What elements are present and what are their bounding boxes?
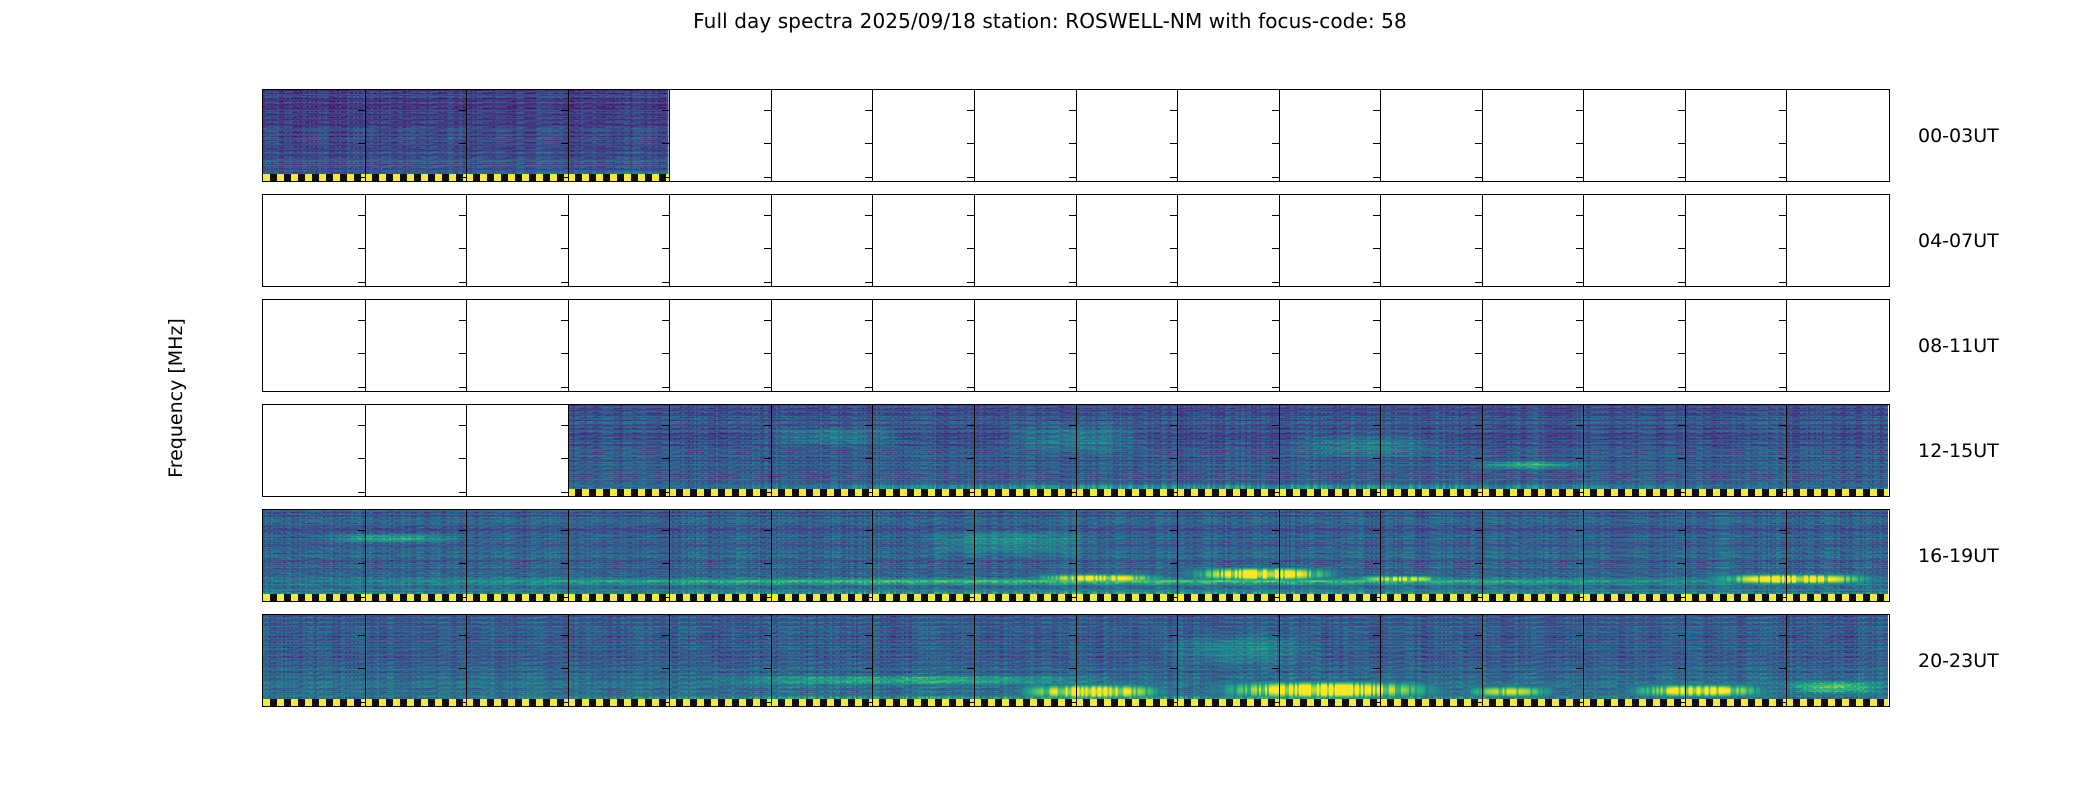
y-tick-inner	[1678, 668, 1685, 669]
y-tick-inner	[459, 282, 466, 283]
y-tick-inner	[967, 320, 974, 321]
y-tick-inner	[865, 492, 872, 493]
spectrogram-row: 20406000153045001530450015304500153045	[262, 614, 1890, 707]
frequency-baseline-marker	[263, 594, 365, 601]
y-tick-inner	[1272, 635, 1279, 636]
y-tick-inner	[1272, 458, 1279, 459]
y-tick-inner	[764, 320, 771, 321]
y-tick-inner	[967, 702, 974, 703]
y-tick-inner	[1272, 110, 1279, 111]
y-tick-inner	[1373, 143, 1380, 144]
panel-separator	[466, 510, 467, 601]
y-tick-inner	[1272, 143, 1279, 144]
y-tick-inner	[561, 668, 568, 669]
panel-separator	[1076, 195, 1078, 286]
y-tick-inner	[1170, 563, 1177, 564]
y-tick-inner	[1272, 597, 1279, 598]
y-tick-inner	[1779, 668, 1786, 669]
panel-separator	[974, 405, 975, 496]
y-tick-inner	[1576, 425, 1583, 426]
panel-separator	[1685, 615, 1686, 706]
y-tick-inner	[459, 353, 466, 354]
panel-separator	[872, 405, 873, 496]
frequency-baseline-marker	[568, 594, 670, 601]
y-tick-inner	[764, 282, 771, 283]
panel-separator	[365, 405, 366, 496]
y-tick-inner	[1069, 143, 1076, 144]
y-tick-inner	[561, 492, 568, 493]
y-tick-inner	[865, 215, 872, 216]
y-tick-inner	[764, 635, 771, 636]
y-tick-inner	[1069, 282, 1076, 283]
y-tick-inner	[865, 668, 872, 669]
y-tick-inner	[1576, 635, 1583, 636]
panel-separator	[1076, 90, 1078, 181]
y-tick-inner	[1069, 320, 1076, 321]
y-tick-inner	[459, 597, 466, 598]
panel-separator	[771, 405, 772, 496]
y-tick-inner	[1373, 248, 1380, 249]
panel-separator	[771, 615, 772, 706]
y-tick-inner	[967, 668, 974, 669]
panel-separator	[669, 405, 670, 496]
y-tick-inner	[561, 702, 568, 703]
y-tick-inner	[1272, 215, 1279, 216]
frequency-baseline-marker	[1583, 594, 1685, 601]
y-tick-inner	[662, 530, 669, 531]
y-tick-inner	[1069, 702, 1076, 703]
page-title: Full day spectra 2025/09/18 station: ROS…	[0, 9, 2100, 33]
panel-separator	[974, 90, 975, 181]
frequency-baseline-marker	[1177, 699, 1279, 706]
y-tick-inner	[1779, 492, 1786, 493]
panel-separator	[1177, 510, 1178, 601]
y-tick-inner	[1272, 425, 1279, 426]
y-tick-inner	[1576, 110, 1583, 111]
panel-separator	[1177, 195, 1178, 286]
y-tick-inner	[662, 248, 669, 249]
y-tick-inner	[561, 320, 568, 321]
y-tick-inner	[561, 353, 568, 354]
y-tick-inner	[1170, 530, 1177, 531]
y-tick-inner	[1170, 668, 1177, 669]
y-tick-inner	[561, 248, 568, 249]
spectrogram-figure: Full day spectra 2025/09/18 station: ROS…	[0, 0, 2100, 800]
y-tick-inner	[967, 248, 974, 249]
y-tick-inner	[561, 282, 568, 283]
y-tick-inner	[865, 635, 872, 636]
panel-separator	[1177, 405, 1178, 496]
panel-separator	[1279, 90, 1280, 181]
y-tick-inner	[764, 177, 771, 178]
y-tick-inner	[459, 110, 466, 111]
y-tick-inner	[1373, 635, 1380, 636]
row-label-08-11ut: 08-11UT	[1918, 335, 1999, 357]
y-tick-inner	[764, 215, 771, 216]
panel-separator	[1177, 300, 1178, 391]
panel-separator	[1786, 405, 1787, 496]
panel-separator	[1786, 195, 1787, 286]
y-tick-inner	[1272, 387, 1279, 388]
y-tick-inner	[561, 143, 568, 144]
y-tick-inner	[1779, 458, 1786, 459]
frequency-baseline-marker	[1380, 699, 1482, 706]
y-tick-inner	[1475, 635, 1482, 636]
y-tick-inner	[459, 425, 466, 426]
y-tick	[262, 282, 263, 283]
panel-separator	[1786, 510, 1787, 601]
frequency-baseline-marker	[1786, 489, 1888, 496]
y-tick-inner	[459, 458, 466, 459]
y-tick-inner	[1272, 492, 1279, 493]
y-tick-inner	[1272, 668, 1279, 669]
frequency-baseline-marker	[1279, 489, 1381, 496]
panel-separator	[1279, 195, 1280, 286]
frequency-baseline-marker	[974, 489, 1076, 496]
y-tick-inner	[358, 702, 365, 703]
panel-separator	[872, 510, 873, 601]
frequency-baseline-marker	[1482, 699, 1584, 706]
y-tick-inner	[1170, 387, 1177, 388]
frequency-baseline-marker	[872, 699, 974, 706]
y-tick-inner	[1272, 530, 1279, 531]
y-tick-inner	[358, 492, 365, 493]
y-tick-inner	[1779, 563, 1786, 564]
frequency-baseline-marker	[1482, 489, 1584, 496]
panel-separator	[1482, 90, 1483, 181]
y-tick-inner	[561, 458, 568, 459]
x-tick	[669, 706, 670, 707]
y-tick-inner	[1779, 353, 1786, 354]
x-tick	[1786, 706, 1787, 707]
y-tick-inner	[358, 563, 365, 564]
frequency-baseline-marker	[669, 489, 771, 496]
row-label-20-23ut: 20-23UT	[1918, 650, 1999, 672]
y-tick-inner	[1272, 320, 1279, 321]
panel-separator	[1583, 405, 1584, 496]
row-label-04-07ut: 04-07UT	[1918, 230, 1999, 252]
frequency-baseline-marker	[1177, 489, 1279, 496]
y-tick-inner	[459, 492, 466, 493]
panel-separator	[771, 195, 772, 286]
plot-area: 2040602040602040602040602040602040600015…	[262, 89, 1890, 707]
panel-separator	[568, 405, 569, 496]
y-tick-inner	[764, 492, 771, 493]
y-tick-inner	[358, 110, 365, 111]
panel-separator	[1076, 300, 1078, 391]
panel-separator	[1177, 90, 1178, 181]
y-tick	[262, 458, 263, 459]
frequency-baseline-marker	[1685, 594, 1787, 601]
frequency-baseline-marker	[568, 489, 670, 496]
panel-separator	[1380, 195, 1381, 286]
panel-separator	[974, 300, 975, 391]
y-tick-inner	[662, 597, 669, 598]
panel-separator	[669, 615, 670, 706]
y-tick-inner	[967, 110, 974, 111]
y-tick-inner	[865, 110, 872, 111]
y-tick-inner	[1576, 143, 1583, 144]
y-tick-inner	[459, 563, 466, 564]
y-tick-inner	[1475, 563, 1482, 564]
x-tick	[263, 706, 264, 707]
panel-separator	[466, 195, 467, 286]
y-tick	[262, 387, 263, 388]
panel-separator	[1279, 510, 1280, 601]
y-tick-inner	[358, 668, 365, 669]
y-tick-inner	[1373, 458, 1380, 459]
row-label-16-19ut: 16-19UT	[1918, 545, 1999, 567]
frequency-baseline-marker	[669, 699, 771, 706]
y-tick-inner	[865, 177, 872, 178]
frequency-baseline-marker	[872, 594, 974, 601]
y-tick-inner	[1678, 282, 1685, 283]
panel-separator	[974, 510, 975, 601]
y-tick-inner	[1069, 563, 1076, 564]
y-tick-inner	[1678, 248, 1685, 249]
panel-separator	[1380, 300, 1381, 391]
panel-separator	[466, 90, 467, 181]
y-tick-inner	[1678, 143, 1685, 144]
y-tick	[262, 530, 263, 531]
panel-separator	[1380, 510, 1381, 601]
y-tick-inner	[1576, 387, 1583, 388]
y-tick-inner	[1779, 110, 1786, 111]
y-tick-inner	[561, 597, 568, 598]
y-tick-inner	[1576, 248, 1583, 249]
y-tick-inner	[1069, 248, 1076, 249]
y-tick-inner	[561, 387, 568, 388]
x-tick	[1380, 706, 1381, 707]
y-tick-inner	[459, 177, 466, 178]
y-tick-inner	[764, 143, 771, 144]
y-tick-inner	[459, 143, 466, 144]
y-tick-inner	[1678, 492, 1685, 493]
panel-separator	[872, 300, 873, 391]
y-tick	[262, 320, 263, 321]
y-tick-inner	[1475, 248, 1482, 249]
y-tick-inner	[662, 143, 669, 144]
y-tick-inner	[561, 177, 568, 178]
frequency-baseline-marker	[872, 489, 974, 496]
y-tick-inner	[662, 635, 669, 636]
y-tick-inner	[358, 177, 365, 178]
y-tick-inner	[1475, 425, 1482, 426]
x-tick	[1177, 706, 1178, 707]
frequency-baseline-marker	[1786, 699, 1888, 706]
y-tick-inner	[358, 282, 365, 283]
frequency-baseline-marker	[1685, 489, 1787, 496]
y-tick-inner	[1779, 177, 1786, 178]
panel-separator	[1482, 405, 1483, 496]
y-tick-inner	[662, 110, 669, 111]
y-tick	[262, 143, 263, 144]
y-tick-inner	[1576, 702, 1583, 703]
y-tick-inner	[1779, 702, 1786, 703]
y-tick-inner	[1170, 492, 1177, 493]
y-tick-inner	[1170, 320, 1177, 321]
panel-separator	[1685, 300, 1686, 391]
y-tick-inner	[1576, 353, 1583, 354]
y-tick-inner	[1272, 353, 1279, 354]
y-tick-inner	[1475, 492, 1482, 493]
frequency-baseline-marker	[974, 699, 1076, 706]
x-tick	[568, 706, 569, 707]
y-tick-inner	[1373, 563, 1380, 564]
y-tick	[262, 492, 263, 493]
y-tick-inner	[1576, 215, 1583, 216]
y-tick-inner	[1069, 492, 1076, 493]
spectrogram-row: 204060	[262, 194, 1890, 287]
panel-separator	[669, 300, 670, 391]
y-tick-inner	[967, 458, 974, 459]
frequency-baseline-marker	[1583, 699, 1685, 706]
frequency-baseline-marker	[1583, 489, 1685, 496]
y-tick-inner	[358, 425, 365, 426]
y-tick-inner	[1373, 668, 1380, 669]
panel-separator	[872, 90, 873, 181]
y-tick-inner	[967, 425, 974, 426]
frequency-baseline-marker	[1482, 594, 1584, 601]
y-tick-inner	[662, 353, 669, 354]
y-tick-inner	[1576, 597, 1583, 598]
y-tick-inner	[865, 530, 872, 531]
y-tick-inner	[662, 425, 669, 426]
x-tick	[771, 706, 772, 707]
y-tick-inner	[1069, 530, 1076, 531]
panel-separator	[1583, 195, 1584, 286]
y-tick-inner	[662, 458, 669, 459]
y-tick	[262, 177, 263, 178]
y-tick-inner	[1272, 563, 1279, 564]
y-tick-inner	[1678, 387, 1685, 388]
frequency-baseline-marker	[365, 594, 467, 601]
y-tick-inner	[1779, 320, 1786, 321]
panel-separator	[974, 195, 975, 286]
y-tick-inner	[1779, 248, 1786, 249]
y-tick-inner	[1373, 492, 1380, 493]
y-tick-inner	[1069, 387, 1076, 388]
y-tick-inner	[1678, 597, 1685, 598]
frequency-baseline-marker	[771, 489, 873, 496]
y-tick-inner	[1475, 353, 1482, 354]
frequency-baseline-marker	[466, 699, 568, 706]
y-tick-inner	[865, 563, 872, 564]
y-tick	[262, 110, 263, 111]
frequency-baseline-marker	[568, 174, 670, 181]
panel-separator	[1380, 90, 1381, 181]
y-tick-inner	[358, 458, 365, 459]
y-tick-inner	[1170, 458, 1177, 459]
y-tick-inner	[967, 492, 974, 493]
y-tick-inner	[1678, 458, 1685, 459]
y-tick-inner	[1170, 282, 1177, 283]
frequency-baseline-marker	[1380, 489, 1482, 496]
panel-separator	[466, 405, 467, 496]
panel-separator	[1380, 405, 1381, 496]
y-tick-inner	[967, 177, 974, 178]
y-tick-inner	[561, 110, 568, 111]
y-tick-inner	[1678, 425, 1685, 426]
y-tick-inner	[1678, 110, 1685, 111]
y-tick-inner	[865, 353, 872, 354]
y-tick-inner	[1069, 215, 1076, 216]
frequency-baseline-marker	[568, 699, 670, 706]
x-tick	[1279, 706, 1280, 707]
y-tick-inner	[1779, 387, 1786, 388]
y-tick-inner	[561, 425, 568, 426]
panel-separator	[1685, 90, 1686, 181]
x-tick	[1583, 706, 1584, 707]
y-tick-inner	[459, 530, 466, 531]
panel-separator	[1786, 615, 1787, 706]
panel-separator	[974, 615, 975, 706]
y-tick-inner	[459, 702, 466, 703]
panel-separator	[1177, 615, 1178, 706]
panel-separator	[1482, 195, 1483, 286]
y-tick-inner	[358, 635, 365, 636]
row-label-12-15ut: 12-15UT	[1918, 440, 1999, 462]
y-tick-inner	[1475, 387, 1482, 388]
y-tick-inner	[764, 248, 771, 249]
panel-separator	[771, 510, 772, 601]
x-tick	[974, 706, 975, 707]
y-tick-inner	[764, 563, 771, 564]
y-tick-inner	[1678, 530, 1685, 531]
y-tick-inner	[358, 215, 365, 216]
panel-separator	[1482, 510, 1483, 601]
y-tick-inner	[358, 387, 365, 388]
y-tick-inner	[662, 177, 669, 178]
y-tick-inner	[662, 215, 669, 216]
y-tick-inner	[1373, 353, 1380, 354]
y-tick-inner	[1576, 492, 1583, 493]
y-axis-label: Frequency [MHz]	[165, 318, 187, 478]
y-tick-inner	[1373, 425, 1380, 426]
y-tick-inner	[459, 668, 466, 669]
y-tick-inner	[1272, 248, 1279, 249]
frequency-baseline-marker	[1279, 699, 1381, 706]
y-tick-inner	[1272, 177, 1279, 178]
y-tick-inner	[1576, 320, 1583, 321]
y-tick-inner	[358, 353, 365, 354]
y-tick-inner	[1373, 177, 1380, 178]
y-tick-inner	[662, 563, 669, 564]
panel-separator	[568, 90, 569, 181]
frequency-baseline-marker	[974, 594, 1076, 601]
y-tick-inner	[1576, 563, 1583, 564]
panel-separator	[1786, 300, 1787, 391]
panel-separator	[1076, 510, 1078, 601]
frequency-baseline-marker	[365, 699, 467, 706]
y-tick-inner	[561, 635, 568, 636]
panel-separator	[1786, 90, 1787, 181]
panel-separator	[1076, 615, 1078, 706]
y-tick-inner	[662, 668, 669, 669]
y-tick-inner	[967, 387, 974, 388]
y-tick-inner	[358, 530, 365, 531]
panel-separator	[365, 615, 366, 706]
y-tick-inner	[1678, 215, 1685, 216]
frequency-baseline-marker	[263, 699, 365, 706]
y-tick-inner	[1475, 668, 1482, 669]
y-tick-inner	[1779, 425, 1786, 426]
y-tick-inner	[865, 320, 872, 321]
y-tick-inner	[1373, 597, 1380, 598]
y-tick-inner	[764, 353, 771, 354]
y-tick-inner	[358, 320, 365, 321]
x-tick	[872, 706, 873, 707]
